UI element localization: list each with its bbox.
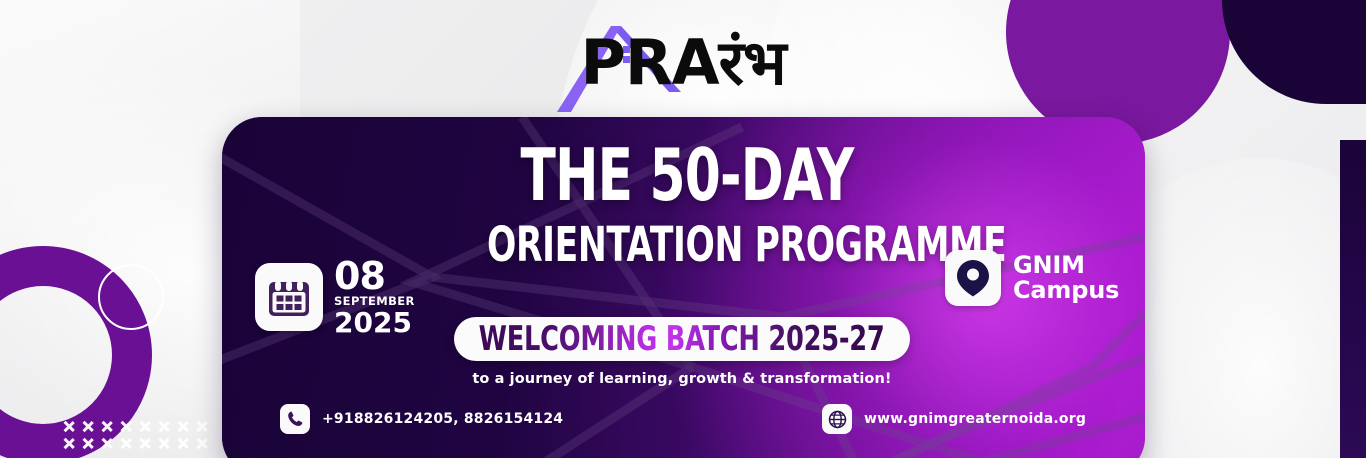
event-date-year: 2025 (334, 309, 415, 337)
contact-phone[interactable]: +918826124205, 8826154124 (280, 404, 563, 434)
x-mark-icon (62, 420, 75, 433)
phone-icon-tile (280, 404, 310, 434)
x-mark-icon (176, 420, 189, 433)
brand-logo: PRAरंभ (0, 10, 1366, 118)
contact-phone-label: +918826124205, 8826154124 (322, 411, 563, 427)
x-mark-icon (157, 437, 170, 450)
event-venue-text: GNIM Campus (1013, 253, 1119, 303)
headline-primary: THE 50-DAY (487, 140, 887, 211)
event-date-text: 08 SEPTEMBER 2025 (334, 257, 415, 337)
x-mark-icon (119, 420, 132, 433)
contact-website-label: www.gnimgreaternoida.org (864, 411, 1086, 427)
promo-banner: PRAरंभ (0, 0, 1366, 458)
x-mark-icon (81, 437, 94, 450)
headline-secondary: ORIENTATION PROGRAMME (487, 221, 887, 269)
venue-line-1: GNIM (1013, 253, 1119, 278)
phone-icon (286, 410, 304, 428)
x-mark-icon (195, 420, 208, 433)
x-marks-row (62, 420, 208, 433)
event-date-block: 08 SEPTEMBER 2025 (255, 257, 415, 337)
brand-logo-text: PRAरंभ (533, 32, 833, 94)
event-subtitle: to a journey of learning, growth & trans… (454, 371, 910, 387)
x-mark-icon (176, 437, 189, 450)
x-marks-pattern (62, 420, 208, 450)
card-content: 08 SEPTEMBER 2025 THE 50-DAY ORIENTATION… (222, 117, 1145, 458)
x-mark-icon (100, 437, 113, 450)
globe-icon-tile (822, 404, 852, 434)
x-mark-icon (81, 420, 94, 433)
x-marks-row (62, 437, 208, 450)
venue-line-2: Campus (1013, 278, 1119, 303)
x-mark-icon (62, 437, 75, 450)
x-mark-icon (138, 437, 151, 450)
event-headline: THE 50-DAY ORIENTATION PROGRAMME (437, 140, 937, 269)
x-mark-icon (100, 420, 113, 433)
event-venue-block: GNIM Campus (945, 250, 1119, 306)
x-mark-icon (195, 437, 208, 450)
welcoming-batch-pill: WELCOMING BATCH 2025-27 (454, 317, 910, 361)
map-pin-icon (955, 258, 991, 298)
calendar-icon (266, 274, 312, 320)
dark-vertical-strip-decoration (1340, 140, 1366, 458)
contact-website[interactable]: www.gnimgreaternoida.org (822, 404, 1086, 434)
x-mark-icon (157, 420, 170, 433)
map-pin-icon-tile (945, 250, 1001, 306)
event-date-day: 08 (334, 257, 415, 295)
x-mark-icon (138, 420, 151, 433)
globe-icon (828, 410, 847, 429)
brand-logo-inner: PRAरंभ (533, 18, 833, 118)
white-outline-circle-decoration (98, 264, 164, 330)
event-card: 08 SEPTEMBER 2025 THE 50-DAY ORIENTATION… (222, 117, 1145, 458)
welcoming-batch-label: WELCOMING BATCH 2025-27 (479, 319, 885, 359)
calendar-icon-tile (255, 263, 323, 331)
x-mark-icon (119, 437, 132, 450)
